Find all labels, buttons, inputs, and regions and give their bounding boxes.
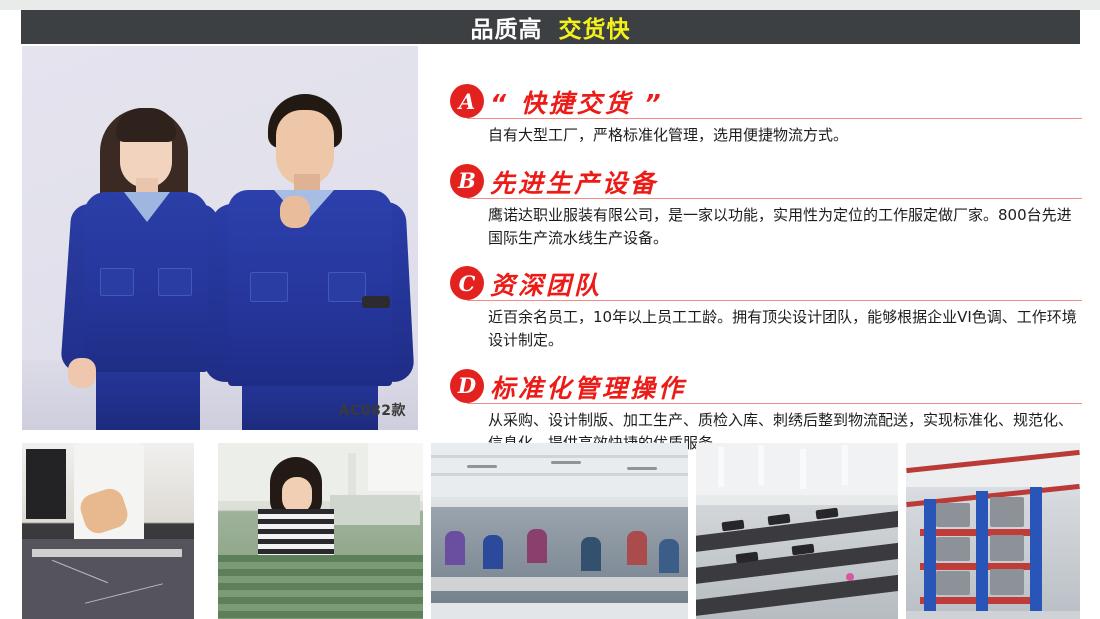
gallery-5-garment-bundle-5 — [936, 571, 970, 595]
gallery-3-worktable-row-a — [431, 577, 688, 591]
feature-b-head: B 先进生产设备 — [450, 160, 1082, 198]
badge-b-icon: B — [450, 164, 484, 198]
gallery-2-machine — [368, 443, 423, 491]
model-female-trousers — [96, 366, 200, 430]
gallery-image-workshop-overview — [431, 443, 688, 619]
model-female-pocket-right — [158, 268, 192, 296]
feature-d-title: 标准化管理操作 — [490, 376, 686, 403]
gallery-3-ceiling-fan-1 — [467, 465, 497, 468]
gallery-3-worker-3 — [527, 529, 547, 563]
feature-a-body: 自有大型工厂，严格标准化管理，选用便捷物流方式。 — [488, 124, 1078, 147]
model-male-pocket-right — [328, 272, 366, 302]
feature-b-title: 先进生产设备 — [490, 171, 658, 198]
gallery-4-lamp-4 — [842, 445, 848, 485]
gallery-5-rack-post-2 — [976, 491, 988, 619]
product-code-label: AC082款 — [339, 400, 406, 420]
badge-a-icon: A — [450, 84, 484, 118]
feature-b-body: 鹰诺达职业服装有限公司，是一家以功能，实用性为定位的工作服定做厂家。800台先进… — [488, 204, 1078, 250]
feature-c-title: 资深团队 — [490, 273, 602, 300]
gallery-5-garment-bundle-3 — [936, 537, 970, 561]
model-male-hand — [280, 196, 310, 228]
feature-d-head: D 标准化管理操作 — [450, 365, 1082, 403]
feature-c-head: C 资深团队 — [450, 262, 1082, 300]
gallery-4-lamp-3 — [800, 449, 806, 489]
feature-c-rule — [467, 300, 1082, 301]
feature-item-a: A “ 快捷交货 ” 自有大型工厂，严格标准化管理，选用便捷物流方式。 — [450, 80, 1082, 147]
model-female-hair-front — [116, 108, 176, 142]
gallery-3-beam-a — [431, 455, 688, 458]
feature-item-b: B 先进生产设备 鹰诺达职业服装有限公司，是一家以功能，实用性为定位的工作服定做… — [450, 160, 1082, 250]
factory-gallery-strip — [22, 443, 1080, 619]
feature-item-c: C 资深团队 近百余名员工，10年以上员工工龄。拥有顶尖设计团队，能够根据企业V… — [450, 262, 1082, 352]
feature-b-rule — [467, 198, 1082, 199]
page-title-bar: 品质高 交货快 — [21, 10, 1080, 44]
gallery-5-garment-bundle-1 — [936, 503, 970, 527]
feature-a-title: “ 快捷交货 ” — [490, 91, 664, 118]
model-female-pocket-left — [100, 268, 134, 296]
gallery-image-cutting-room — [22, 443, 194, 619]
gallery-4-ceiling — [696, 443, 898, 495]
badge-c-icon: C — [450, 266, 484, 300]
gallery-4-lamp-2 — [758, 445, 764, 485]
gallery-3-worker-4 — [581, 537, 601, 571]
gallery-1-cabinet — [26, 449, 66, 519]
gallery-2-worker-face — [282, 477, 312, 513]
gallery-3-ceiling-fan-2 — [551, 461, 581, 464]
gallery-2-bench — [330, 495, 420, 525]
gallery-image-warehouse-racks — [906, 443, 1080, 619]
feature-list: A “ 快捷交货 ” 自有大型工厂，严格标准化管理，选用便捷物流方式。 B 先进… — [450, 80, 1082, 430]
gallery-image-conveyor-line — [696, 443, 898, 619]
gallery-1-fabric-layer — [32, 549, 182, 557]
feature-c-body: 近百余名员工，10年以上员工工龄。拥有顶尖设计团队，能够根据企业VI色调、工作环… — [488, 306, 1078, 352]
page-title-accent: 交货快 — [559, 10, 631, 44]
model-male-pocket-left — [250, 272, 288, 302]
feature-a-head: A “ 快捷交货 ” — [450, 80, 1082, 118]
gallery-3-beam-b — [431, 473, 688, 476]
gallery-5-rack-post-1 — [924, 499, 936, 619]
feature-d-rule — [467, 403, 1082, 404]
gallery-image-sewing-operator — [218, 443, 423, 619]
gallery-5-garment-bundle-2 — [990, 497, 1024, 527]
top-light-band — [0, 0, 1100, 10]
hero-product-image: AC082款 — [22, 46, 418, 430]
badge-d-icon: D — [450, 369, 484, 403]
gallery-3-ceiling — [431, 443, 688, 497]
gallery-5-floor — [906, 611, 1080, 619]
gallery-5-garment-bundle-4 — [990, 535, 1024, 561]
gallery-4-lamp-1 — [718, 447, 724, 487]
gallery-5-rack-post-3 — [1030, 487, 1042, 619]
gallery-3-worker-5 — [627, 531, 647, 565]
model-female-hand — [68, 358, 96, 388]
gallery-4-marker — [846, 573, 854, 581]
gallery-3-worker-1 — [445, 531, 465, 565]
gallery-3-worker-6 — [659, 539, 679, 573]
page-title-primary: 品质高 — [471, 10, 543, 44]
gallery-3-ceiling-fan-3 — [627, 467, 657, 470]
gallery-5-garment-bundle-6 — [990, 569, 1024, 595]
feature-a-rule — [467, 118, 1082, 119]
gallery-2-fabric-stack — [218, 555, 423, 619]
model-male-watch — [362, 296, 390, 308]
feature-item-d: D 标准化管理操作 从采购、设计制版、加工生产、质检入库、刺绣后整到物流配送，实… — [450, 365, 1082, 455]
gallery-3-worktable-row-b — [431, 603, 688, 619]
gallery-3-worker-2 — [483, 535, 503, 569]
